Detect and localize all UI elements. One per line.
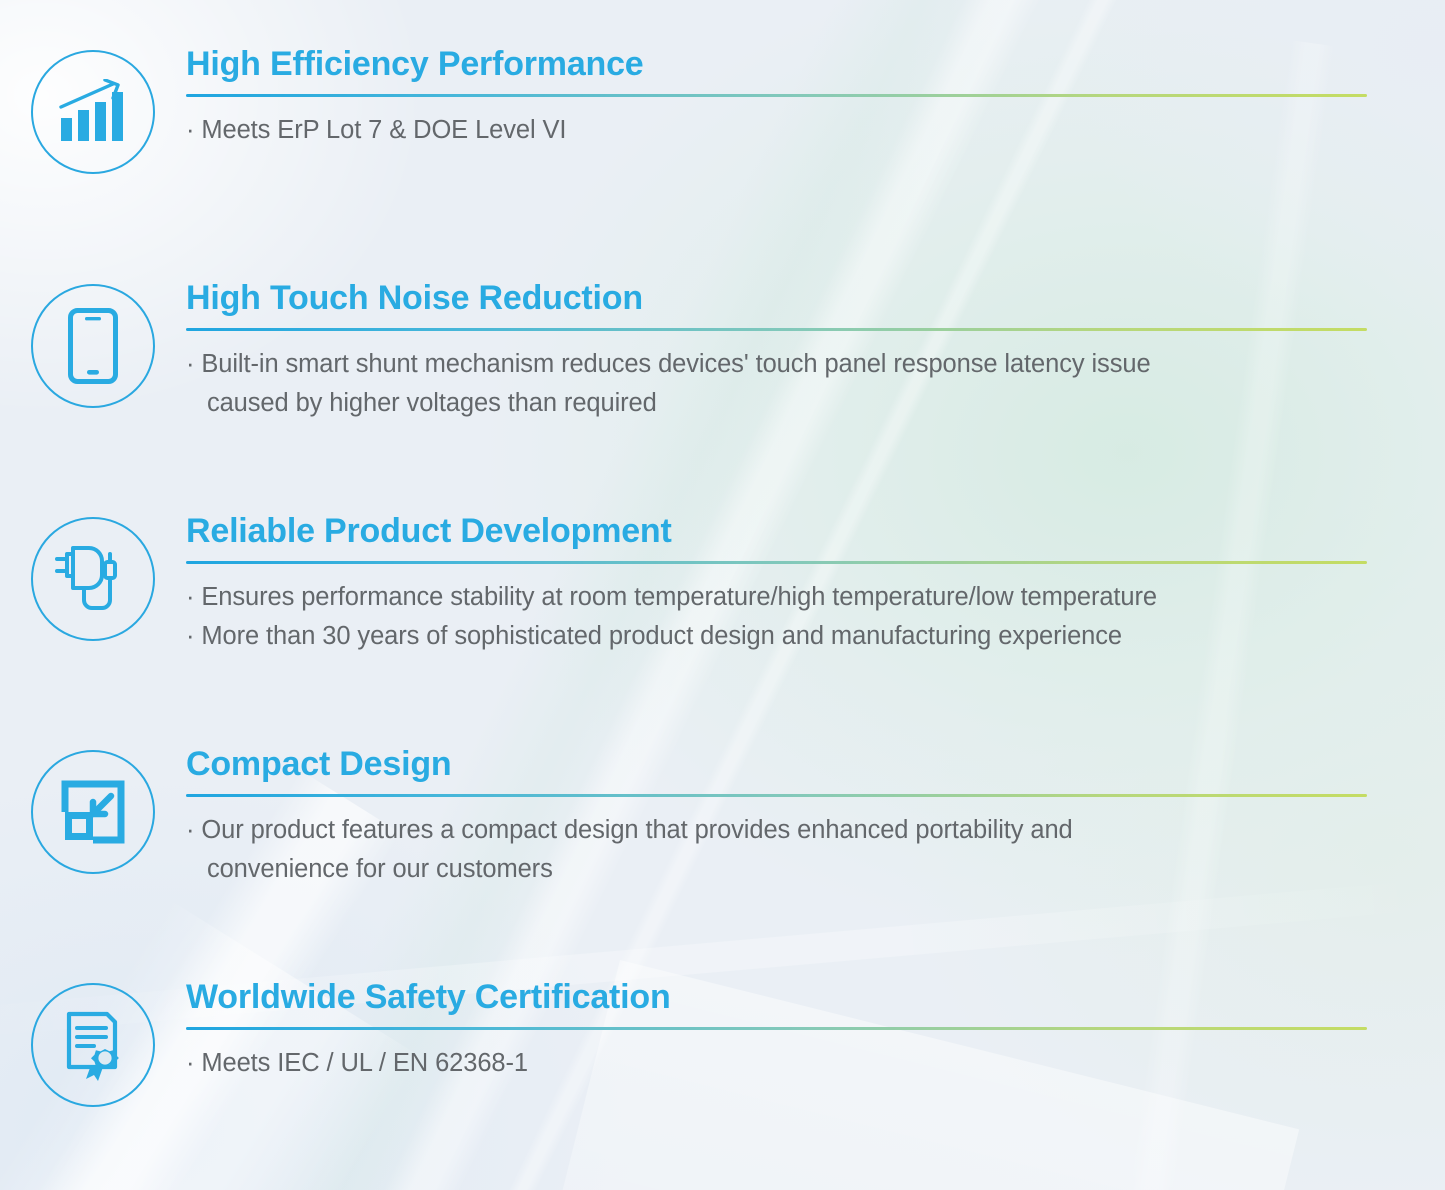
feature-bullet-line: · Our product features a compact design …: [186, 811, 1367, 850]
feature-title: High Touch Noise Reduction: [186, 280, 1367, 316]
feature-bullet-line: · More than 30 years of sophisticated pr…: [186, 617, 1367, 656]
feature-item-high-efficiency-performance: High Efficiency Performance · Meets ErP …: [0, 46, 1445, 174]
feature-text-block: Reliable Product Development · Ensures p…: [186, 513, 1445, 656]
certificate-seal-icon: [60, 1009, 126, 1081]
feature-text-block: Worldwide Safety Certification · Meets I…: [186, 979, 1445, 1083]
bar-chart-growth-icon: [57, 79, 129, 145]
feature-item-high-touch-noise-reduction: High Touch Noise Reduction · Built-in sm…: [0, 280, 1445, 423]
feature-title: Reliable Product Development: [186, 513, 1367, 549]
icon-circle-frame: [31, 284, 155, 408]
feature-bullet-list: · Ensures performance stability at room …: [186, 578, 1367, 656]
feature-icon-container: [0, 280, 186, 408]
feature-bullet-line: convenience for our customers: [186, 850, 1367, 889]
feature-divider-rule: [186, 794, 1367, 797]
feature-icon-container: [0, 513, 186, 641]
feature-title: Compact Design: [186, 746, 1367, 782]
feature-text-block: Compact Design · Our product features a …: [186, 746, 1445, 889]
feature-title: High Efficiency Performance: [186, 46, 1367, 82]
feature-text-block: High Efficiency Performance · Meets ErP …: [186, 46, 1445, 150]
feature-icon-container: [0, 979, 186, 1107]
feature-bullet-line: · Ensures performance stability at room …: [186, 578, 1367, 617]
icon-circle-frame: [31, 750, 155, 874]
feature-bullet-line: · Meets IEC / UL / EN 62368-1: [186, 1044, 1367, 1083]
feature-bullet-line: · Meets ErP Lot 7 & DOE Level VI: [186, 111, 1367, 150]
feature-divider-rule: [186, 328, 1367, 331]
feature-bullet-list: · Meets IEC / UL / EN 62368-1: [186, 1044, 1367, 1083]
feature-highlights-page: High Efficiency Performance · Meets ErP …: [0, 0, 1445, 1190]
feature-text-block: High Touch Noise Reduction · Built-in sm…: [186, 280, 1445, 423]
feature-icon-container: [0, 746, 186, 874]
feature-title: Worldwide Safety Certification: [186, 979, 1367, 1015]
feature-bullet-line: · Built-in smart shunt mechanism reduces…: [186, 345, 1367, 384]
feature-bullet-list: · Our product features a compact design …: [186, 811, 1367, 889]
feature-icon-container: [0, 46, 186, 174]
feature-bullet-list: · Meets ErP Lot 7 & DOE Level VI: [186, 111, 1367, 150]
feature-bullet-line: caused by higher voltages than required: [186, 384, 1367, 423]
feature-item-reliable-product-development: Reliable Product Development · Ensures p…: [0, 513, 1445, 656]
icon-circle-frame: [31, 517, 155, 641]
feature-item-compact-design: Compact Design · Our product features a …: [0, 746, 1445, 889]
feature-item-worldwide-safety-certification: Worldwide Safety Certification · Meets I…: [0, 979, 1445, 1107]
compact-resize-icon: [60, 779, 126, 845]
icon-circle-frame: [31, 983, 155, 1107]
feature-divider-rule: [186, 1027, 1367, 1030]
feature-divider-rule: [186, 561, 1367, 564]
smartphone-icon: [68, 308, 118, 384]
icon-circle-frame: [31, 50, 155, 174]
feature-divider-rule: [186, 94, 1367, 97]
power-adapter-icon: [53, 542, 133, 616]
feature-bullet-list: · Built-in smart shunt mechanism reduces…: [186, 345, 1367, 423]
